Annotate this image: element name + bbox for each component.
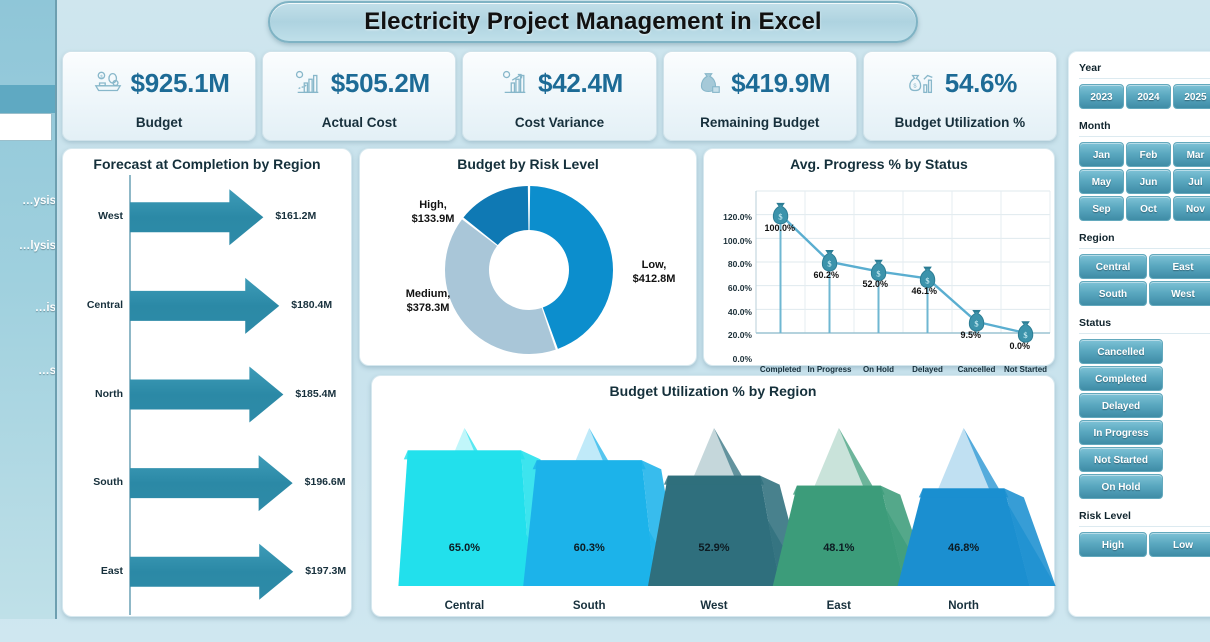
slicer-divider xyxy=(1079,78,1210,79)
money-bag-chart-icon: $ xyxy=(907,68,937,98)
nav-item-3[interactable]: …is xyxy=(0,302,56,314)
money-bag-marker-icon: $ xyxy=(822,250,836,270)
kpi-card-cost-variance[interactable]: $42.4M Cost Variance xyxy=(462,51,656,141)
progress-data-label: 46.1% xyxy=(912,286,938,296)
forecast-category-label: South xyxy=(69,476,123,488)
pyramid-category-label: East xyxy=(795,600,883,612)
slicer-option-east[interactable]: East xyxy=(1149,254,1210,279)
forecast-category-label: East xyxy=(69,565,123,577)
svg-text:$: $ xyxy=(925,275,930,285)
svg-text:$: $ xyxy=(827,259,832,269)
svg-text:$: $ xyxy=(778,212,783,222)
slicer-divider xyxy=(1079,333,1210,334)
slicer-option-on-hold[interactable]: On Hold xyxy=(1079,474,1163,499)
progress-data-label: 52.0% xyxy=(863,279,889,289)
pyramid-chart: 65.0%Central60.3%South52.9%West48.1%East… xyxy=(372,404,1056,616)
progress-data-label: 60.2% xyxy=(814,270,840,280)
kpi-card-actual-cost[interactable]: $505.2M Actual Cost xyxy=(262,51,456,141)
progress-line-chart: $$$$$$ 0.0%20.0%40.0%60.0%80.0%100.0%120… xyxy=(704,175,1056,365)
slicer-option-not-started[interactable]: Not Started xyxy=(1079,447,1163,472)
slicer-option-2024[interactable]: 2024 xyxy=(1126,84,1171,109)
kpi-label: Cost Variance xyxy=(515,115,604,130)
money-stack-icon: $ xyxy=(93,68,123,98)
dashboard-title-banner: Electricity Project Management in Excel xyxy=(268,1,918,43)
slicer-month: MonthJanFebMarMayJunJulSepOctNov xyxy=(1079,120,1210,221)
bar-chart-coin-icon xyxy=(293,68,323,98)
slicer-option-2023[interactable]: 2023 xyxy=(1079,84,1124,109)
progress-x-tick: On Hold xyxy=(851,365,907,374)
forecast-value-label: $185.4M xyxy=(295,388,336,400)
progress-y-tick: 20.0% xyxy=(706,330,752,340)
forecast-value-label: $196.6M xyxy=(305,476,346,488)
money-bag-marker-icon: $ xyxy=(920,267,934,287)
chart-title: Forecast at Completion by Region xyxy=(63,149,351,172)
forecast-value-label: $197.3M xyxy=(305,565,346,577)
progress-x-tick: Not Started xyxy=(998,365,1054,374)
slicer-risk-level: Risk LevelHighLow xyxy=(1079,510,1210,557)
kpi-card-budget-utilization[interactable]: $ 54.6% Budget Utilization % xyxy=(863,51,1057,141)
pyramid-category-label: South xyxy=(545,600,633,612)
progress-svg: $$$$$$ xyxy=(704,175,1056,365)
slicer-divider xyxy=(1079,248,1210,249)
progress-data-label: 9.5% xyxy=(961,330,982,340)
chart-panel-budget-by-risk-level: Budget by Risk Level High, $133.9M Mediu… xyxy=(359,148,697,366)
kpi-value: 54.6% xyxy=(945,68,1017,99)
slicer-option-cancelled[interactable]: Cancelled xyxy=(1079,339,1163,364)
slicer-button-grid: HighLow xyxy=(1079,532,1210,557)
pyramid-value-label: 48.1% xyxy=(817,542,861,554)
money-bag-marker-icon: $ xyxy=(871,260,885,280)
kpi-card-row: $ $925.1M Budget $505.2M Actual C xyxy=(62,51,1057,141)
kpi-label: Budget xyxy=(136,115,183,130)
kpi-label: Actual Cost xyxy=(322,115,397,130)
slicer-option-2025[interactable]: 2025 xyxy=(1173,84,1210,109)
kpi-value: $42.4M xyxy=(538,68,623,99)
money-bag-marker-icon: $ xyxy=(969,310,983,330)
slicer-option-feb[interactable]: Feb xyxy=(1126,142,1171,167)
progress-y-tick: 60.0% xyxy=(706,283,752,293)
pyramid-svg xyxy=(372,404,1056,616)
slicer-divider xyxy=(1079,526,1210,527)
page-title: Electricity Project Management in Excel xyxy=(364,8,821,36)
donut-label-high: High, $133.9M xyxy=(394,199,472,227)
progress-y-tick: 100.0% xyxy=(706,236,752,246)
kpi-card-remaining-budget[interactable]: $419.9M Remaining Budget xyxy=(663,51,857,141)
slicer-option-jun[interactable]: Jun xyxy=(1126,169,1171,194)
pyramid-value-label: 52.9% xyxy=(692,542,736,554)
nav-rail-name-box[interactable] xyxy=(0,113,52,141)
slicer-option-delayed[interactable]: Delayed xyxy=(1079,393,1163,418)
chart-panel-budget-utilization-by-region: Budget Utilization % by Region 65.0%Cent… xyxy=(371,375,1055,617)
money-bag-marker-icon: $ xyxy=(1018,322,1032,342)
nav-item-2[interactable]: …lysis xyxy=(0,240,56,252)
slicer-button-grid: JanFebMarMayJunJulSepOctNov xyxy=(1079,142,1210,221)
chart-panel-forecast-at-completion: Forecast at Completion by Region West$16… xyxy=(62,148,352,617)
slicer-option-south[interactable]: South xyxy=(1079,281,1147,306)
forecast-value-label: $180.4M xyxy=(291,299,332,311)
slicer-header: Year xyxy=(1079,62,1210,74)
nav-rail[interactable]: …ysis …lysis …is …s xyxy=(0,0,57,619)
pyramid-category-label: West xyxy=(670,600,758,612)
slicer-option-central[interactable]: Central xyxy=(1079,254,1147,279)
svg-text:$: $ xyxy=(100,74,103,79)
slicer-option-low[interactable]: Low xyxy=(1149,532,1210,557)
svg-text:$: $ xyxy=(876,268,881,278)
progress-x-tick: Cancelled xyxy=(949,365,1005,374)
money-bag-marker-icon: $ xyxy=(773,203,787,223)
progress-y-tick: 40.0% xyxy=(706,307,752,317)
forecast-category-label: Central xyxy=(69,299,123,311)
kpi-value: $925.1M xyxy=(131,68,230,99)
slicer-option-oct[interactable]: Oct xyxy=(1126,196,1171,221)
slicer-region: RegionCentralEastSouthWest xyxy=(1079,232,1210,306)
forecast-category-label: West xyxy=(69,210,123,222)
slicer-button-grid: 202320242025 xyxy=(1079,84,1210,109)
svg-text:$: $ xyxy=(913,84,917,90)
slicer-button-grid: CentralEastSouthWest xyxy=(1079,254,1210,306)
progress-x-tick: Completed xyxy=(753,365,809,374)
slicer-option-west[interactable]: West xyxy=(1149,281,1210,306)
pyramid-category-label: North xyxy=(920,600,1008,612)
slicer-option-completed[interactable]: Completed xyxy=(1079,366,1163,391)
slicer-header: Region xyxy=(1079,232,1210,244)
chart-title: Avg. Progress % by Status xyxy=(704,149,1054,172)
chart-title: Budget Utilization % by Region xyxy=(372,376,1054,399)
kpi-value: $505.2M xyxy=(331,68,430,99)
kpi-label: Remaining Budget xyxy=(700,115,819,130)
forecast-chart-plot: West$161.2MCentral$180.4MNorth$185.4MSou… xyxy=(63,173,353,616)
forecast-category-label: North xyxy=(69,388,123,400)
slicer-header: Risk Level xyxy=(1079,510,1210,522)
slicer-option-sep[interactable]: Sep xyxy=(1079,196,1124,221)
slicer-status: StatusCancelledCompletedDelayedIn Progre… xyxy=(1079,317,1210,499)
pyramid-category-label: Central xyxy=(420,600,508,612)
pyramid-value-label: 65.0% xyxy=(442,542,486,554)
nav-item-1[interactable]: …ysis xyxy=(0,195,56,207)
money-bag-icon xyxy=(693,68,723,98)
slicer-option-may[interactable]: May xyxy=(1079,169,1124,194)
slicer-panel: Year202320242025MonthJanFebMarMayJunJulS… xyxy=(1068,51,1210,617)
svg-text:$: $ xyxy=(974,319,979,329)
progress-data-label: 0.0% xyxy=(1010,341,1031,351)
progress-x-tick: Delayed xyxy=(900,365,956,374)
slicer-option-jul[interactable]: Jul xyxy=(1173,169,1210,194)
slicer-option-mar[interactable]: Mar xyxy=(1173,142,1210,167)
pyramid-value-label: 60.3% xyxy=(567,542,611,554)
slicer-divider xyxy=(1079,136,1210,137)
nav-item-4[interactable]: …s xyxy=(0,365,56,377)
pyramid-value-label: 46.8% xyxy=(942,542,986,554)
kpi-card-budget[interactable]: $ $925.1M Budget xyxy=(62,51,256,141)
donut-chart: High, $133.9M Medium, $378.3M Low, $412.… xyxy=(360,175,698,365)
slicer-year: Year202320242025 xyxy=(1079,62,1210,109)
slicer-button-grid: CancelledCompletedDelayedIn ProgressNot … xyxy=(1079,339,1210,499)
slicer-option-in-progress[interactable]: In Progress xyxy=(1079,420,1163,445)
slicer-header: Month xyxy=(1079,120,1210,132)
slicer-header: Status xyxy=(1079,317,1210,329)
forecast-value-label: $161.2M xyxy=(275,210,316,222)
kpi-label: Budget Utilization % xyxy=(895,115,1026,130)
progress-x-tick: In Progress xyxy=(802,365,858,374)
progress-y-tick: 80.0% xyxy=(706,259,752,269)
slicer-option-nov[interactable]: Nov xyxy=(1173,196,1210,221)
chart-panel-avg-progress-by-status: Avg. Progress % by Status $$$$$$ 0.0%20.… xyxy=(703,148,1055,366)
nav-rail-selection xyxy=(0,85,57,113)
slicer-option-high[interactable]: High xyxy=(1079,532,1147,557)
progress-data-label: 100.0% xyxy=(765,223,796,233)
donut-label-low: Low, $412.8M xyxy=(615,259,693,287)
donut-label-medium: Medium, $378.3M xyxy=(382,288,474,316)
bar-chart-coin-icon xyxy=(500,68,530,98)
slicer-option-jan[interactable]: Jan xyxy=(1079,142,1124,167)
progress-y-tick: 0.0% xyxy=(706,354,752,364)
kpi-value: $419.9M xyxy=(731,68,830,99)
progress-y-tick: 120.0% xyxy=(706,212,752,222)
chart-title: Budget by Risk Level xyxy=(360,149,696,172)
